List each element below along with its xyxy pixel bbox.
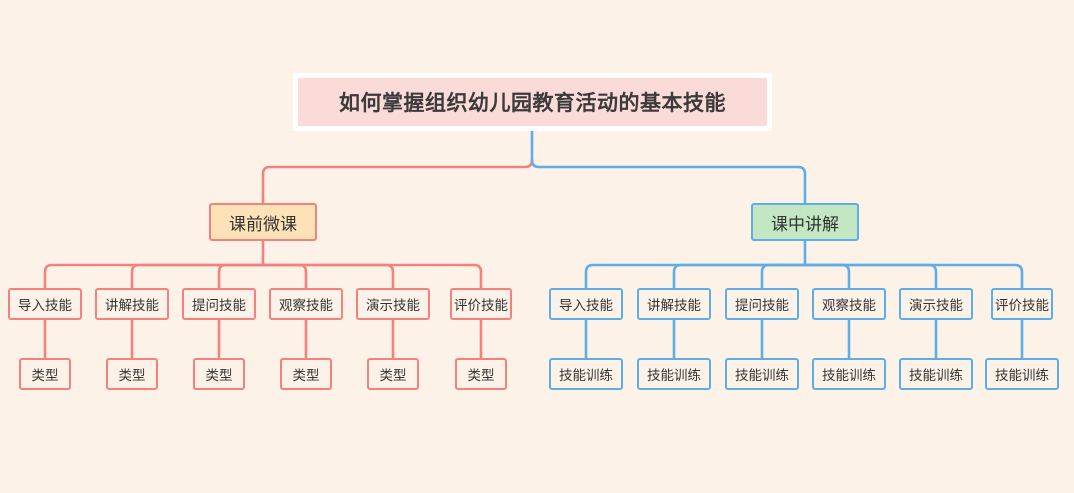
skill-node-left-3-label: 提问技能 [192,294,246,314]
leaf-node-right-5[interactable]: 技能训练 [899,358,973,390]
skill-node-left-1[interactable]: 导入技能 [8,288,82,320]
skill-node-right-5-label: 演示技能 [909,294,963,314]
leaf-node-left-2[interactable]: 类型 [106,358,158,390]
skill-node-right-3-label: 提问技能 [735,294,789,314]
leaf-node-right-1-label: 技能训练 [559,364,613,384]
mindmap-canvas: 如何掌握组织幼儿园教育活动的基本技能 课前微课 课中讲解 导入技能类型讲解技能类… [0,0,1074,493]
connector [805,265,1022,288]
skill-node-right-3[interactable]: 提问技能 [725,288,799,320]
leaf-node-right-3-label: 技能训练 [735,364,789,384]
leaf-node-right-1[interactable]: 技能训练 [549,358,623,390]
leaf-node-left-3-label: 类型 [206,364,233,384]
leaf-node-right-6-label: 技能训练 [995,364,1049,384]
leaf-node-left-6[interactable]: 类型 [455,358,507,390]
connector [805,265,936,288]
branch-node-left[interactable]: 课前微课 [209,203,317,241]
skill-node-left-1-label: 导入技能 [18,294,72,314]
skill-node-left-4[interactable]: 观察技能 [269,288,343,320]
skill-node-right-6-label: 评价技能 [995,294,1049,314]
skill-node-left-5[interactable]: 演示技能 [356,288,430,320]
leaf-node-left-1[interactable]: 类型 [19,358,71,390]
leaf-node-right-2[interactable]: 技能训练 [637,358,711,390]
connector [674,265,805,288]
skill-node-left-5-label: 演示技能 [366,294,420,314]
skill-node-left-6[interactable]: 评价技能 [450,288,512,320]
connector [219,265,263,288]
connector [762,265,805,288]
skill-node-left-4-label: 观察技能 [279,294,333,314]
leaf-node-right-3[interactable]: 技能训练 [725,358,799,390]
connector [586,265,805,288]
connector [263,160,532,203]
connector [532,160,805,203]
leaf-node-left-4-label: 类型 [293,364,320,384]
connector [263,265,306,288]
leaf-node-left-2-label: 类型 [119,364,146,384]
leaf-node-right-4-label: 技能训练 [822,364,876,384]
leaf-node-right-6[interactable]: 技能训练 [985,358,1059,390]
leaf-node-left-5[interactable]: 类型 [367,358,419,390]
connector [45,265,263,288]
leaf-node-right-5-label: 技能训练 [909,364,963,384]
leaf-node-right-4[interactable]: 技能训练 [812,358,886,390]
leaf-node-left-5-label: 类型 [380,364,407,384]
skill-node-left-6-label: 评价技能 [454,294,508,314]
leaf-node-left-6-label: 类型 [468,364,495,384]
connector [132,265,263,288]
connector [805,265,849,288]
leaf-node-left-4[interactable]: 类型 [280,358,332,390]
skill-node-right-6[interactable]: 评价技能 [991,288,1053,320]
skill-node-right-1[interactable]: 导入技能 [549,288,623,320]
root-node-label: 如何掌握组织幼儿园教育活动的基本技能 [298,78,767,126]
skill-node-right-4-label: 观察技能 [822,294,876,314]
skill-node-left-3[interactable]: 提问技能 [182,288,256,320]
connector [263,265,481,288]
skill-node-right-2[interactable]: 讲解技能 [637,288,711,320]
skill-node-right-5[interactable]: 演示技能 [899,288,973,320]
skill-node-left-2-label: 讲解技能 [105,294,159,314]
root-node[interactable]: 如何掌握组织幼儿园教育活动的基本技能 [293,73,772,131]
branch-node-right[interactable]: 课中讲解 [751,203,859,241]
leaf-node-left-1-label: 类型 [32,364,59,384]
skill-node-right-4[interactable]: 观察技能 [812,288,886,320]
leaf-node-right-2-label: 技能训练 [647,364,701,384]
skill-node-left-2[interactable]: 讲解技能 [95,288,169,320]
skill-node-right-1-label: 导入技能 [559,294,613,314]
connector [263,265,393,288]
leaf-node-left-3[interactable]: 类型 [193,358,245,390]
skill-node-right-2-label: 讲解技能 [647,294,701,314]
